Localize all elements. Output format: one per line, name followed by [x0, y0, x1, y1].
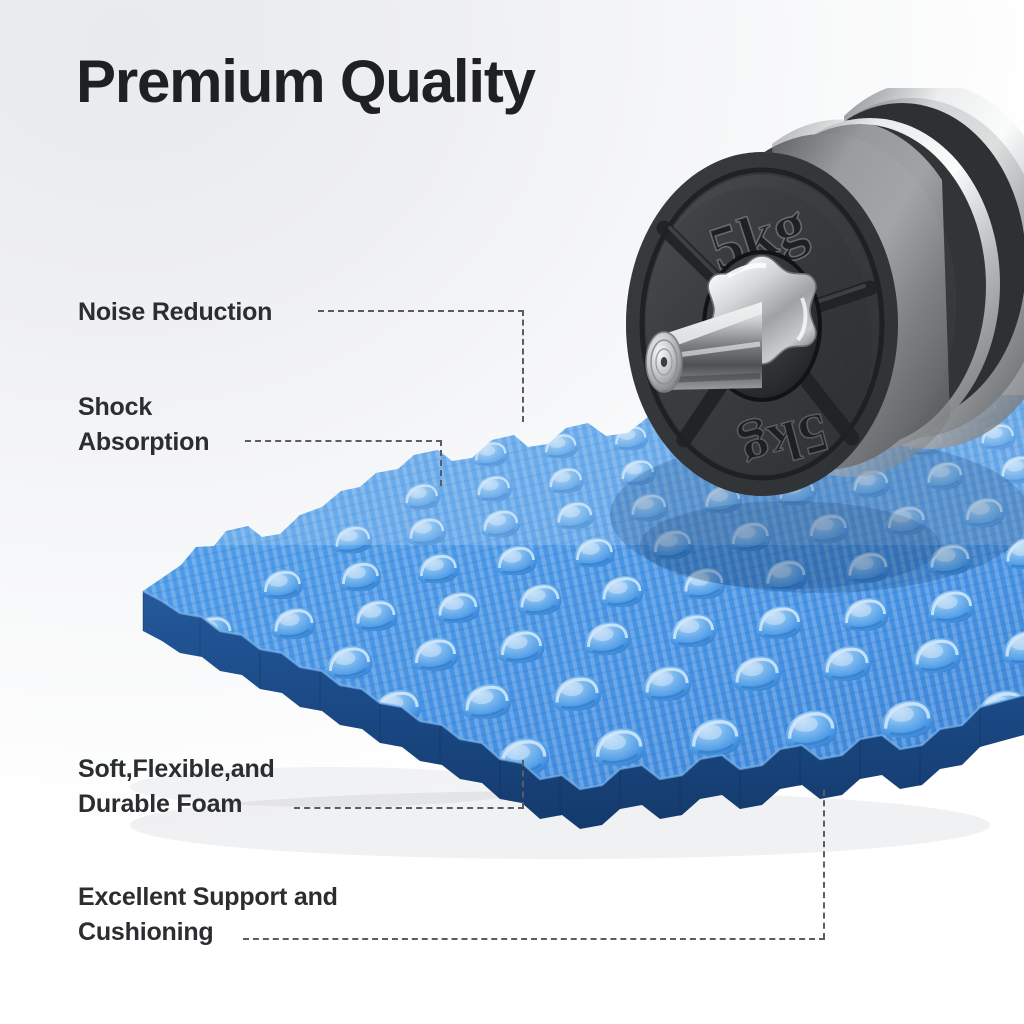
feature-label-shock-absorption: Shock Absorption	[78, 390, 209, 459]
leader-line-soft-foam-vertical	[522, 760, 524, 808]
leader-line-shock-absorption-vertical	[440, 440, 442, 486]
leader-line-shock-absorption-horizontal	[245, 440, 442, 442]
feature-label-support-cushioning: Excellent Support and Cushioning	[78, 880, 338, 949]
leader-line-noise-reduction-vertical	[522, 310, 524, 422]
dumbbell-image: 5kg 5kg	[612, 88, 1024, 608]
leader-line-support-vertical	[823, 790, 825, 939]
dumbbell-bar-endcap	[646, 332, 682, 392]
leader-line-noise-reduction-horizontal	[318, 310, 524, 312]
product-feature-banner: 5kg 5kg	[0, 0, 1024, 1024]
feature-label-noise-reduction: Noise Reduction	[78, 295, 272, 330]
leader-line-soft-foam-horizontal	[294, 807, 524, 809]
page-title: Premium Quality	[76, 50, 535, 113]
feature-label-soft-flexible-foam: Soft,Flexible,and Durable Foam	[78, 752, 275, 821]
dumbbell-graphic: 5kg 5kg	[612, 88, 1024, 608]
